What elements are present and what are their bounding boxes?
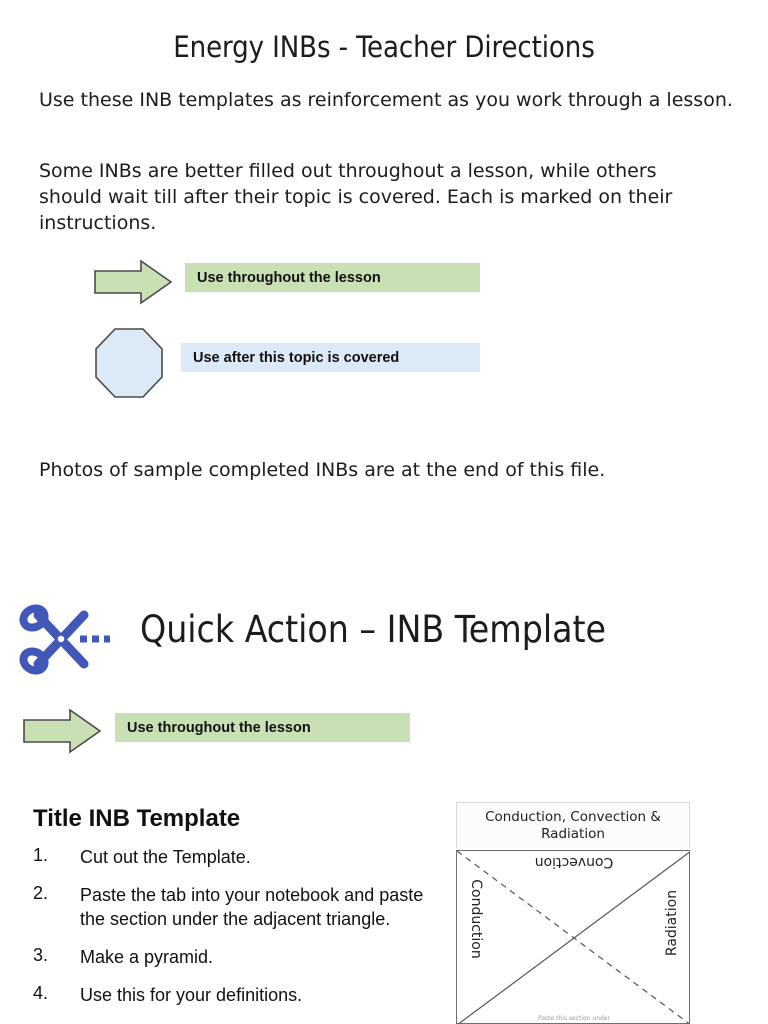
- template-tab-label: Conduction, Convection & Radiation: [456, 802, 690, 848]
- step-text: Paste the tab into your notebook and pas…: [80, 883, 433, 931]
- inb-template-heading: Title INB Template: [33, 805, 240, 833]
- step-text: Make a pyramid.: [80, 945, 213, 969]
- intro-paragraph: Use these INB templates as reinforcement…: [39, 86, 739, 114]
- step-number: 3.: [33, 945, 80, 969]
- step-number: 1.: [33, 845, 80, 869]
- template-label-conduction: Conduction: [468, 850, 484, 994]
- arrow-right-icon: [93, 258, 173, 306]
- template-diagonals-icon: [457, 851, 690, 1024]
- note-paragraph: Some INBs are better filled out througho…: [39, 158, 719, 236]
- octagon-icon: [94, 327, 164, 399]
- document-page: Energy INBs - Teacher Directions Use the…: [0, 0, 768, 1024]
- template-label-convection: Convection: [457, 854, 690, 870]
- arrow-right-icon: [22, 707, 102, 755]
- template-label-radiation: Radiation: [664, 850, 680, 998]
- step-number: 4.: [33, 983, 80, 1007]
- banner-label-throughout: Use throughout the lesson: [115, 713, 410, 742]
- legend-label-after-topic: Use after this topic is covered: [181, 343, 480, 372]
- step-text: Cut out the Template.: [80, 845, 251, 869]
- instruction-steps: 1. Cut out the Template. 2. Paste the ta…: [33, 845, 433, 1021]
- legend-label-throughout: Use throughout the lesson: [185, 263, 480, 292]
- template-square: Convection Conduction Radiation Paste th…: [456, 850, 690, 1024]
- inb-template-diagram: Conduction, Convection & Radiation Conve…: [456, 802, 692, 1024]
- scissors-icon: [18, 598, 114, 680]
- step-text: Use this for your definitions.: [80, 983, 302, 1007]
- list-item: 3. Make a pyramid.: [33, 945, 433, 969]
- page-title: Energy INBs - Teacher Directions: [0, 30, 768, 64]
- footer-paragraph: Photos of sample completed INBs are at t…: [39, 457, 739, 483]
- list-item: 2. Paste the tab into your notebook and …: [33, 883, 433, 931]
- step-number: 2.: [33, 883, 80, 931]
- list-item: 1. Cut out the Template.: [33, 845, 433, 869]
- section-heading: Quick Action – INB Template: [140, 608, 606, 651]
- template-label-paste-note: Paste this section under: [457, 1015, 690, 1022]
- list-item: 4. Use this for your definitions.: [33, 983, 433, 1007]
